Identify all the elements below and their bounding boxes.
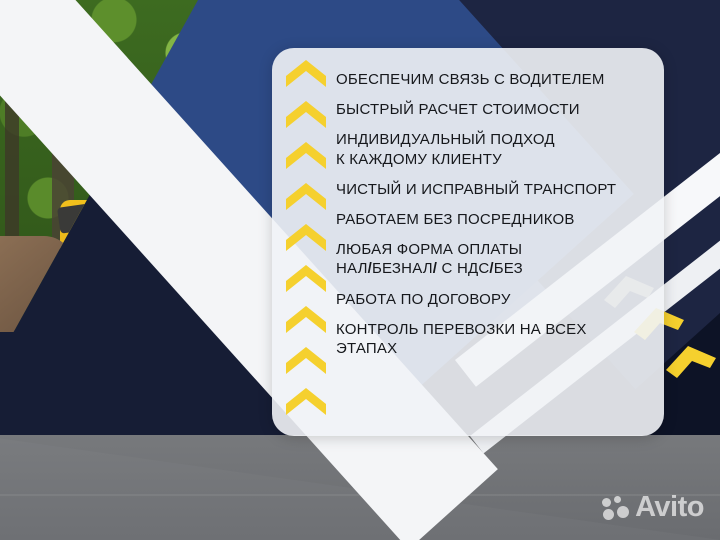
poster-canvas: JCB — [0, 0, 720, 540]
chevron-up-icon — [284, 58, 328, 88]
feature-contract-work: РАБОТА ПО ДОГОВОРУ — [336, 290, 656, 309]
chevron-up-icon — [284, 304, 328, 334]
chevron-up-icon — [284, 140, 328, 170]
avito-dot — [602, 498, 611, 507]
feature-fast-quote: БЫСТРЫЙ РАСЧЕТ СТОИМОСТИ — [336, 100, 656, 119]
feature-payment-forms-l1: ЛЮБАЯ ФОРМА ОПЛАТЫ — [336, 240, 656, 259]
features-card: ОБЕСПЕЧИМ СВЯЗЬ С ВОДИТЕЛЕМ БЫСТРЫЙ РАСЧ… — [272, 48, 664, 436]
chevron-up-icon — [284, 345, 328, 375]
chevron-up-icon — [284, 222, 328, 252]
chevron-up-icon — [284, 181, 328, 211]
feature-clean-transport: ЧИСТЫЙ И ИСПРАВНЫЙ ТРАНСПОРТ — [336, 180, 656, 199]
chevron-up-icon — [284, 263, 328, 293]
chevron-up-icon — [284, 99, 328, 129]
feature-individual-approach-l2: К КАЖДОМУ КЛИЕНТУ — [336, 150, 656, 169]
feature-shipment-control-l1: КОНТРОЛЬ ПЕРЕВОЗКИ НА ВСЕХ — [336, 320, 656, 339]
feature-payment-forms-l2: НАЛ/БЕЗНАЛ/ С НДС/БЕЗ — [336, 259, 656, 278]
list-item: РАБОТА ПО ДОГОВОРУ — [336, 290, 656, 309]
payment-with-vat: С НДС — [437, 260, 489, 277]
feature-shipment-control-l2: ЭТАПАХ — [336, 339, 656, 358]
payment-cash: НАЛ — [336, 260, 368, 277]
list-item: КОНТРОЛЬ ПЕРЕВОЗКИ НА ВСЕХ ЭТАПАХ — [336, 320, 656, 358]
feature-list: ОБЕСПЕЧИМ СВЯЗЬ С ВОДИТЕЛЕМ БЫСТРЫЙ РАСЧ… — [336, 70, 656, 369]
chevron-column — [284, 58, 330, 430]
chevron-up-icon — [284, 386, 328, 416]
avito-dot — [617, 506, 629, 518]
avito-dots-logo — [602, 496, 628, 520]
list-item: ЛЮБАЯ ФОРМА ОПЛАТЫ НАЛ/БЕЗНАЛ/ С НДС/БЕЗ — [336, 240, 656, 278]
list-item: БЫСТРЫЙ РАСЧЕТ СТОИМОСТИ — [336, 100, 656, 119]
feature-driver-contact: ОБЕСПЕЧИМ СВЯЗЬ С ВОДИТЕЛЕМ — [336, 70, 656, 89]
list-item: ИНДИВИДУАЛЬНЫЙ ПОДХОД К КАЖДОМУ КЛИЕНТУ — [336, 130, 656, 168]
payment-without-vat: БЕЗ — [494, 260, 523, 277]
list-item: РАБОТАЕМ БЕЗ ПОСРЕДНИКОВ — [336, 210, 656, 229]
avito-dot — [603, 509, 614, 520]
avito-wordmark: Avito — [635, 493, 704, 522]
feature-individual-approach-l1: ИНДИВИДУАЛЬНЫЙ ПОДХОД — [336, 130, 656, 149]
list-item: ОБЕСПЕЧИМ СВЯЗЬ С ВОДИТЕЛЕМ — [336, 70, 656, 89]
avito-dot — [614, 496, 621, 503]
list-item: ЧИСТЫЙ И ИСПРАВНЫЙ ТРАНСПОРТ — [336, 180, 656, 199]
chevron-up-right-icon — [662, 338, 720, 384]
payment-cashless: БЕЗНАЛ — [372, 260, 433, 277]
feature-no-intermediaries: РАБОТАЕМ БЕЗ ПОСРЕДНИКОВ — [336, 210, 656, 229]
avito-watermark: Avito — [602, 493, 704, 522]
